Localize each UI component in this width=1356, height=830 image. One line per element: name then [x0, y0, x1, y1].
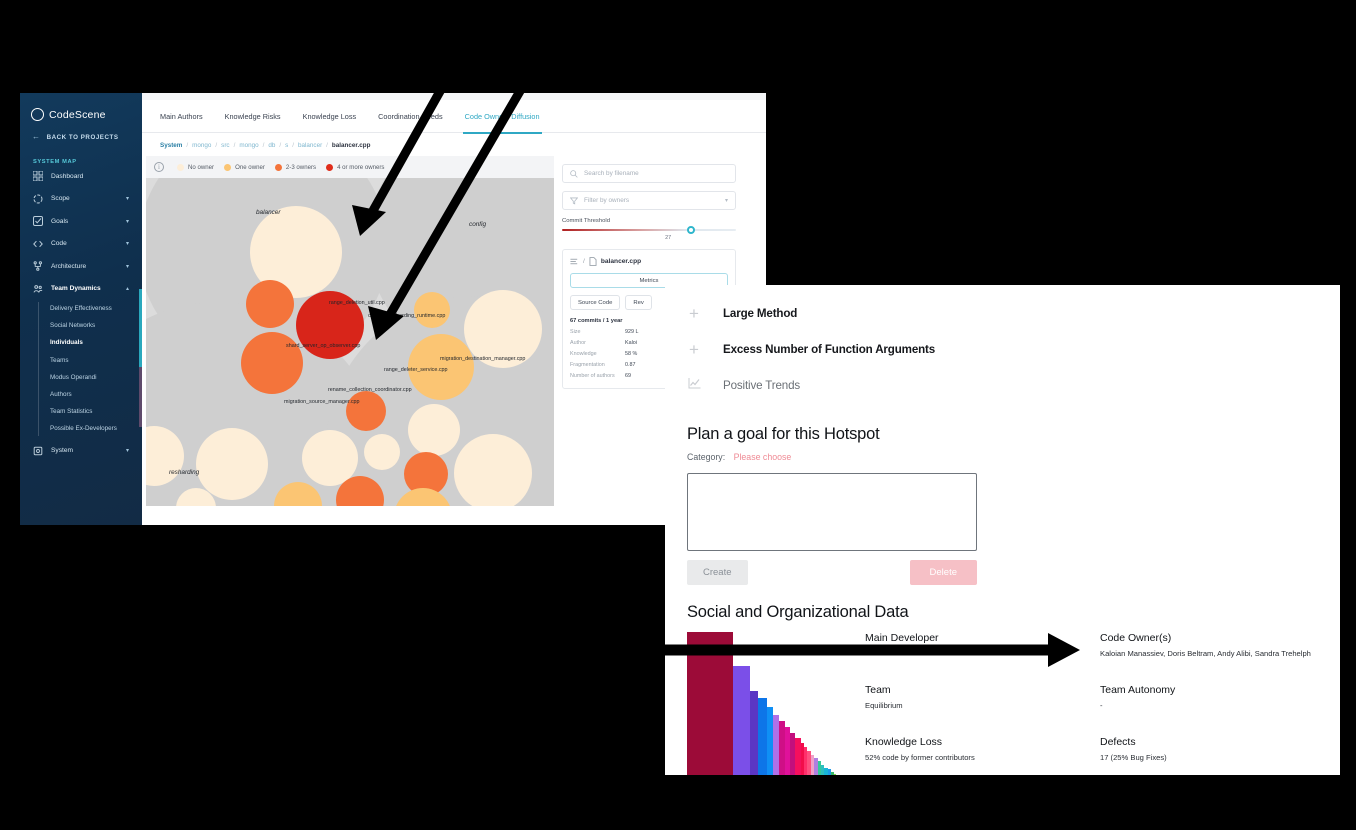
goal-section-title: Plan a goal for this Hotspot	[687, 425, 1318, 444]
stack-bar-column	[733, 632, 750, 775]
sidebar-item-code[interactable]: Code ▾	[20, 233, 142, 256]
social-field-key: Knowledge Loss	[865, 736, 1100, 748]
sidebar-item-label: Architecture	[51, 263, 86, 270]
breadcrumb-item[interactable]: balancer	[298, 142, 322, 149]
slider-handle[interactable]	[687, 226, 695, 234]
social-field-key: Code Owner(s)	[1100, 632, 1318, 644]
sidebar-item-system[interactable]: System ▾	[20, 440, 142, 463]
breadcrumb-separator: /	[186, 142, 188, 149]
plus-icon[interactable]: +	[687, 305, 701, 322]
breadcrumb-separator: /	[215, 142, 217, 149]
sidebar-item-label: Team Dynamics	[51, 285, 101, 292]
sidebar-subnav: Delivery Effectiveness Social Networks I…	[20, 300, 142, 438]
hotspot-item-label: Excess Number of Function Arguments	[723, 343, 935, 356]
breadcrumb-separator: /	[234, 142, 236, 149]
tab-knowledge-loss[interactable]: Knowledge Loss	[303, 100, 357, 133]
sidebar-item-team-dynamics[interactable]: Team Dynamics ▾	[20, 278, 142, 301]
filter-icon	[570, 197, 578, 205]
social-field-value: 17 (25% Bug Fixes)	[1100, 753, 1318, 762]
legend-label: No owner	[188, 164, 214, 171]
category-select[interactable]: Please choose	[734, 452, 792, 462]
legend-item-four-or-more-owners: 4 or more owners	[326, 164, 384, 171]
social-field-key: Team	[865, 684, 1100, 696]
social-field-key: Team Autonomy	[1100, 684, 1318, 696]
owners-filter-placeholder: Filter by owners	[584, 197, 629, 204]
overlay-body: + Large Method + Excess Number of Functi…	[665, 285, 1340, 775]
back-to-projects-label: BACK TO PROJECTS	[47, 134, 119, 141]
file-path-separator: /	[583, 258, 585, 265]
social-field-knowledge-loss: Knowledge Loss 52% code by former contri…	[865, 736, 1100, 775]
metric-value: 0.87	[625, 362, 636, 368]
social-field-defects: Defects 17 (25% Bug Fixes)	[1100, 736, 1318, 775]
social-field-key: Main Developer	[865, 632, 1100, 644]
breadcrumb-item[interactable]: mongo	[192, 142, 211, 149]
metric-key: Fragmentation	[570, 362, 625, 368]
file-header: / balancer.cpp	[570, 257, 728, 266]
metric-key: Number of authors	[570, 373, 625, 379]
architecture-icon	[33, 261, 43, 271]
sidebar-subitem-authors[interactable]: Authors	[50, 386, 142, 403]
sidebar-item-label: Code	[51, 240, 67, 247]
bubble-file[interactable]	[196, 428, 268, 500]
chevron-down-icon: ▾	[126, 263, 129, 270]
system-icon	[33, 446, 43, 456]
bubble-group-label: balancer	[256, 209, 281, 216]
stack-bar-column	[779, 632, 786, 775]
hotspot-item-large-method[interactable]: + Large Method	[687, 295, 1318, 331]
breadcrumb-separator: /	[326, 142, 328, 149]
breadcrumb-item[interactable]: mongo	[239, 142, 258, 149]
legend-label: 2-3 owners	[286, 164, 316, 171]
sidebar-item-goals[interactable]: Goals ▾	[20, 210, 142, 233]
search-icon	[570, 170, 578, 178]
sidebar-item-architecture[interactable]: Architecture ▾	[20, 255, 142, 278]
brand-logo[interactable]: CodeScene	[20, 103, 142, 121]
bubble-file[interactable]	[346, 391, 386, 431]
hotspot-item-positive-trends[interactable]: Positive Trends	[687, 367, 1318, 403]
chevron-down-icon: ▾	[126, 447, 129, 454]
breadcrumb-separator: /	[292, 142, 294, 149]
sidebar-item-dashboard[interactable]: Dashboard	[20, 165, 142, 188]
sidebar-subitem-teams[interactable]: Teams	[50, 352, 142, 369]
social-field-team-autonomy: Team Autonomy -	[1100, 684, 1318, 736]
sidebar-item-label: Dashboard	[51, 173, 83, 180]
tab-main-authors[interactable]: Main Authors	[160, 100, 203, 133]
grid-icon	[33, 171, 43, 181]
file-name: balancer.cpp	[601, 258, 641, 265]
hotspot-item-label: Large Method	[723, 307, 797, 320]
legend-item-one-owner: One owner	[224, 164, 265, 171]
sidebar-subitem-social-networks[interactable]: Social Networks	[50, 317, 142, 334]
stack-bar-column	[758, 632, 766, 775]
scope-icon	[33, 194, 43, 204]
bubble-canvas[interactable]: balancer config resharding range_deletio…	[146, 178, 554, 506]
hotspot-item-label: Positive Trends	[723, 379, 800, 392]
breadcrumb-item[interactable]: s	[285, 142, 288, 149]
social-field-value: Equilibrium	[865, 701, 1100, 710]
brand-name: CodeScene	[49, 109, 106, 121]
legend-label: 4 or more owners	[337, 164, 384, 171]
social-data-grid: Main Developer Code Owner(s) Kaloian Man…	[843, 632, 1318, 775]
bubble-group-label: config	[469, 221, 486, 228]
tab-knowledge-risks[interactable]: Knowledge Risks	[225, 100, 281, 133]
social-field-team: Team Equilibrium	[865, 684, 1100, 736]
bubble-file-label: collection_sharding_runtime.cpp	[368, 313, 445, 319]
hotspot-detail-overlay: + Large Method + Excess Number of Functi…	[665, 285, 1340, 775]
breadcrumb-separator: /	[263, 142, 265, 149]
contribution-stack-chart[interactable]	[687, 632, 843, 775]
sidebar-subitem-team-statistics[interactable]: Team Statistics	[50, 403, 142, 420]
stack-bar-segment	[758, 698, 766, 775]
legend-color-swatch	[326, 164, 333, 171]
metric-value: Kaloi	[625, 340, 637, 346]
sidebar-subitem-possible-ex-developers[interactable]: Possible Ex-Developers	[50, 420, 142, 437]
bubble-file-label: migration_source_manager.cpp	[284, 399, 360, 405]
sidebar: CodeScene ← BACK TO PROJECTS SYSTEM MAP …	[20, 93, 142, 525]
social-field-value: -	[1100, 701, 1318, 710]
owners-legend: i No owner One owner 2-3 owners	[146, 156, 554, 178]
tab-bar: Main Authors Knowledge Risks Knowledge L…	[142, 100, 766, 133]
commit-threshold-value: 27	[600, 235, 736, 241]
code-icon	[33, 239, 43, 249]
metric-value: 929 L	[625, 329, 639, 335]
bubble-group-label: resharding	[169, 469, 199, 476]
bubble-file-label: migration_destination_manager.cpp	[440, 356, 525, 362]
chevron-down-icon: ▾	[725, 197, 728, 204]
social-field-code-owners: Code Owner(s) Kaloian Manassiev, Doris B…	[1100, 632, 1318, 684]
tab-code-owners-diffusion[interactable]: Code Owners Diffusion	[465, 100, 540, 133]
chevron-down-icon: ▾	[126, 218, 129, 225]
search-input[interactable]: Search by filename	[562, 164, 736, 183]
stack-bar-segment	[767, 707, 774, 775]
metric-value: 58 %	[625, 351, 637, 357]
stack-bar-column	[687, 632, 733, 775]
stack-bar-column	[767, 632, 774, 775]
plus-icon[interactable]: +	[687, 341, 701, 358]
system-map-label: SYSTEM MAP	[20, 141, 142, 165]
sidebar-subitem-modus-operandi[interactable]: Modus Operandi	[50, 369, 142, 386]
stack-bar-segment	[779, 721, 786, 775]
stack-bar-segment	[733, 666, 750, 775]
category-label: Category:	[687, 452, 725, 462]
sidebar-subitem-delivery-effectiveness[interactable]: Delivery Effectiveness	[50, 300, 142, 317]
file-icon	[589, 257, 597, 266]
legend-item-no-owner: No owner	[177, 164, 214, 171]
breadcrumb-item-current: balancer.cpp	[332, 142, 371, 149]
bubble-file[interactable]	[408, 404, 460, 456]
breadcrumb-separator: /	[279, 142, 281, 149]
bubble-file-label: shard_server_op_observer.cpp	[286, 343, 360, 349]
breadcrumb: System / mongo / src / mongo / db / s / …	[142, 133, 766, 156]
legend-color-swatch	[224, 164, 231, 171]
sidebar-subitem-individuals[interactable]: Individuals	[50, 334, 142, 351]
bubble-file[interactable]	[454, 434, 532, 506]
bubble-file-label: range_deleter_service.cpp	[384, 367, 448, 373]
legend-color-swatch	[177, 164, 184, 171]
tab-coordination-needs[interactable]: Coordination Needs	[378, 100, 443, 133]
legend-color-swatch	[275, 164, 282, 171]
commit-threshold-slider[interactable]	[562, 229, 736, 231]
owners-filter-select[interactable]: Filter by owners ▾	[562, 191, 736, 210]
bubble-file[interactable]	[364, 434, 400, 470]
breadcrumb-item[interactable]: System	[160, 142, 182, 149]
arrow-left-icon: ←	[32, 133, 41, 141]
legend-item-two-three-owners: 2-3 owners	[275, 164, 316, 171]
breadcrumb-item[interactable]: db	[268, 142, 275, 149]
commit-threshold-label: Commit Threshold	[562, 218, 736, 224]
create-button[interactable]: Create	[687, 560, 748, 585]
legend-label: One owner	[235, 164, 265, 171]
hotspot-item-excess-arguments[interactable]: + Excess Number of Function Arguments	[687, 331, 1318, 367]
social-field-main-developer: Main Developer	[865, 632, 1100, 684]
metric-key: Size	[570, 329, 625, 335]
goal-description-textarea[interactable]	[687, 473, 977, 551]
goal-actions: Create Delete	[687, 560, 977, 585]
bubble-file[interactable]	[246, 280, 294, 328]
social-field-key: Defects	[1100, 736, 1318, 748]
codescene-app-window: CodeScene ← BACK TO PROJECTS SYSTEM MAP …	[20, 93, 766, 525]
team-icon	[33, 284, 43, 294]
sidebar-item-label: Scope	[51, 195, 70, 202]
sidebar-item-scope[interactable]: Scope ▾	[20, 188, 142, 211]
breadcrumb-item[interactable]: src	[221, 142, 229, 149]
stack-bar-segment	[750, 691, 758, 775]
review-button[interactable]: Rev	[625, 295, 651, 310]
source-code-button[interactable]: Source Code	[570, 295, 620, 310]
sidebar-item-label: System	[51, 447, 73, 454]
chevron-down-icon: ▾	[126, 240, 129, 247]
category-row: Category: Please choose	[687, 452, 1318, 462]
social-section-title: Social and Organizational Data	[687, 603, 1318, 622]
trend-chart-icon	[687, 376, 701, 394]
stack-bar-segment	[687, 632, 733, 775]
chevron-down-icon: ▾	[126, 195, 129, 202]
goals-icon	[33, 216, 43, 226]
bubble-file-label: rename_collection_coordinator.cpp	[328, 387, 412, 393]
list-icon	[570, 257, 579, 266]
codescene-logo-icon	[31, 108, 44, 121]
bubble-file[interactable]	[241, 332, 303, 394]
bubble-file[interactable]	[414, 292, 450, 328]
social-data-row: Main Developer Code Owner(s) Kaloian Man…	[687, 632, 1318, 775]
sidebar-item-label: Goals	[51, 218, 68, 225]
bubble-file-label: range_deletion_util.cpp	[329, 300, 385, 306]
code-owners-diffusion-chart: i No owner One owner 2-3 owners	[146, 156, 554, 506]
metric-key: Author	[570, 340, 625, 346]
metric-key: Knowledge	[570, 351, 625, 357]
social-field-value: Kaloian Manassiev, Doris Beltram, Andy A…	[1100, 649, 1318, 658]
stack-bar-column	[750, 632, 758, 775]
delete-button[interactable]: Delete	[910, 560, 977, 585]
back-to-projects-link[interactable]: ← BACK TO PROJECTS	[20, 121, 142, 141]
info-icon[interactable]: i	[154, 162, 164, 172]
social-field-value: 52% code by former contributors	[865, 753, 1100, 762]
search-placeholder: Search by filename	[584, 170, 639, 177]
metric-value: 69	[625, 373, 631, 379]
chevron-up-icon: ▾	[126, 285, 129, 292]
